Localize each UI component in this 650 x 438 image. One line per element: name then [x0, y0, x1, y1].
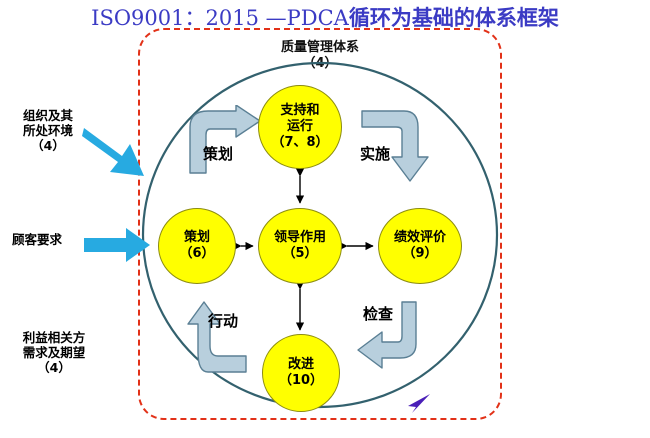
cycle-direction-arrowhead-icon — [400, 392, 436, 414]
input-context-line3: （4） — [10, 138, 86, 153]
node-planning-line2: （6） — [179, 246, 214, 262]
node-support-line2: 运行 — [287, 119, 313, 135]
input-arrow-context-icon — [82, 122, 150, 182]
node-support-line3: （7、8） — [271, 135, 328, 151]
node-planning-line1: 策划 — [184, 230, 210, 246]
node-improvement[interactable]: 改进 （10） — [262, 334, 340, 412]
node-support-and-operation[interactable]: 支持和 运行 （7、8） — [258, 85, 342, 169]
diagram-canvas: ISO9001：2015 —PDCA循环为基础的体系框架 质量管理体系 （4） … — [0, 0, 650, 438]
node-performance-line2: （9） — [402, 246, 437, 262]
input-interest-line1: 利益相关方 — [6, 330, 102, 345]
input-label-context: 组织及其 所处环境 （4） — [10, 108, 86, 153]
node-performance-evaluation[interactable]: 绩效评价 （9） — [378, 208, 462, 284]
node-performance-line1: 绩效评价 — [394, 230, 446, 246]
input-interest-line2: 需求及期望 — [6, 345, 102, 360]
input-interest-line3: （4） — [6, 360, 102, 375]
page-title-latin: ISO9001：2015 —PDCA — [91, 6, 349, 30]
pdca-label-act: 行动 — [208, 310, 238, 331]
pdca-label-do: 实施 — [360, 143, 390, 164]
node-leadership-line2: （5） — [282, 246, 317, 262]
input-context-line2: 所处环境 — [10, 123, 86, 138]
input-arrow-customer-icon — [84, 228, 150, 262]
input-context-line1: 组织及其 — [10, 108, 86, 123]
pdca-label-check: 检查 — [363, 303, 393, 324]
input-label-interested-parties: 利益相关方 需求及期望 （4） 顾客满意 质量管理体系 结果 产品和服务 — [6, 330, 102, 375]
node-improvement-line2: （10） — [279, 373, 323, 389]
node-support-line1: 支持和 — [280, 103, 319, 119]
qms-caption-line1: 质量管理体系 — [230, 40, 410, 56]
page-title-cjk: 循环为基础的体系框架 — [349, 5, 559, 30]
node-improvement-line1: 改进 — [288, 357, 314, 373]
node-planning[interactable]: 策划 （6） — [158, 208, 236, 284]
input-label-customer-requirements: 顾客要求 — [12, 232, 62, 247]
input-customer-line1: 顾客要求 — [12, 232, 62, 247]
pdca-arrow-plan-icon — [186, 105, 264, 175]
node-leadership-line1: 领导作用 — [274, 230, 326, 246]
node-leadership[interactable]: 领导作用 （5） — [258, 208, 342, 284]
pdca-label-plan: 策划 — [203, 143, 233, 164]
